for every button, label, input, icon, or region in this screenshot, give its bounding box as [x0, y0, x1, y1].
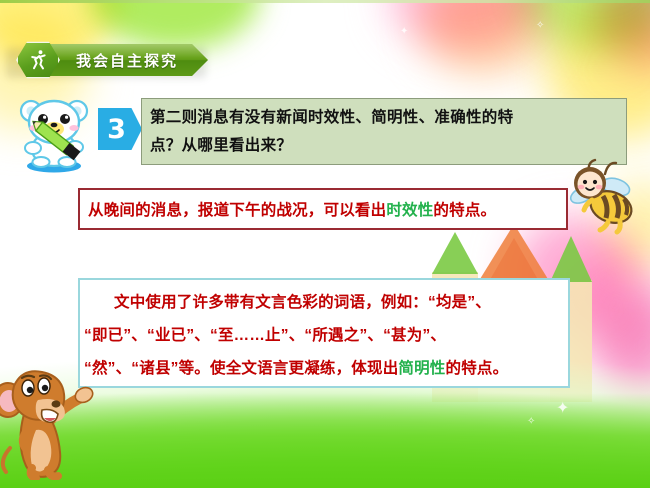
answer-2-line-3-seg-2: 的特点。 [446, 360, 509, 377]
answer-2-line-2: “即已”、“业已”、“至……止”、“所遇之”、“甚为”、 [84, 319, 564, 352]
answer-2-highlight: 简明性 [398, 360, 445, 377]
sparkle-icon-d: ✧ [527, 416, 535, 427]
answer-2-line-3: “然”、“诸县”等。使全文语言更凝练，体现出简明性的特点。 [84, 352, 564, 385]
answer-box-1: 从晚间的消息，报道下午的战况，可以看出时效性的特点。 [78, 188, 568, 230]
jerry-mouse-icon [0, 352, 102, 480]
answer-1-seg-0: 从晚间的消息，报道下午的战况，可以看出 [88, 202, 386, 219]
question-line-2: 点？从哪里看出来？ [150, 132, 618, 160]
answer-2-line-1: 文中使用了许多带有文言色彩的词语，例如：“均是”、 [84, 286, 564, 319]
sparkle-icon-a: ✦ [400, 26, 408, 37]
answer-1-highlight: 时效性 [386, 202, 433, 219]
banner-title: 我会自主探究 [76, 50, 178, 71]
answer-2-line-1-seg-0: 文中使用了许多带有文言色彩的词语，例如：“均是”、 [114, 294, 491, 311]
banner-plate: 我会自主探究 [50, 44, 208, 76]
sparkle-icon-b: ✧ [536, 20, 544, 31]
question-line-1: 第二则消息有没有新闻时效性、简明性、准确性的特 [150, 104, 618, 132]
question-box: 第二则消息有没有新闻时效性、简明性、准确性的特 点？从哪里看出来？ [141, 98, 627, 165]
white-bear-mascot-icon [12, 92, 96, 174]
cartoon-bee-icon [556, 152, 642, 238]
top-edge-strip [0, 0, 650, 3]
answer-box-2: 文中使用了许多带有文言色彩的词语，例如：“均是”、 “即已”、“业已”、“至……… [78, 278, 570, 388]
slide-canvas: ✦ ✧ ✦ ✧ 我会自主探究 [0, 0, 650, 488]
question-number: 3 [107, 116, 126, 143]
answer-2-line-3-seg-0: “然”、“诸县”等。使全文语言更凝练，体现出 [84, 360, 398, 377]
answer-2-line-2-seg-0: “即已”、“业已”、“至……止”、“所遇之”、“甚为”、 [84, 327, 446, 344]
section-banner: 我会自主探究 [16, 42, 208, 78]
answer-1-text: 从晚间的消息，报道下午的战况，可以看出时效性的特点。 [88, 198, 496, 220]
answer-1-seg-2: 的特点。 [433, 202, 496, 219]
sparkle-icon-c: ✦ [556, 398, 569, 418]
